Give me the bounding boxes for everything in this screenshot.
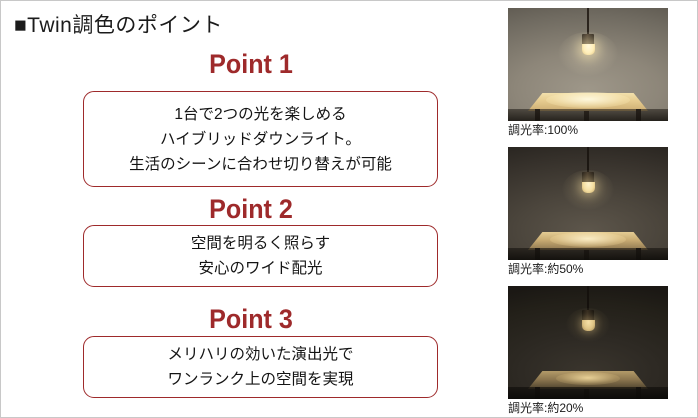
point-box-1-line-2: ハイブリッドダウンライト。 bbox=[160, 127, 361, 152]
lamp-halo bbox=[562, 170, 614, 210]
page-title: ■Twin調色のポイント bbox=[14, 12, 223, 40]
photo-caption-100: 調光率:100% bbox=[508, 123, 692, 138]
photo-dimming-20 bbox=[508, 286, 668, 399]
lamp-cord bbox=[587, 8, 589, 35]
photo-dimming-50 bbox=[508, 147, 668, 260]
point-box-2: 空間を明るく照らす 安心のワイド配光 bbox=[83, 225, 438, 287]
point-box-3-line-1: メリハリの効いた演出光で bbox=[167, 342, 353, 367]
point-box-3-line-2: ワンランク上の空間を実現 bbox=[167, 367, 353, 392]
point-heading-group-1: Point 1 bbox=[1, 49, 501, 79]
table-light-pool bbox=[546, 92, 630, 108]
point-heading-3: Point 3 bbox=[19, 304, 484, 334]
point-heading-2: Point 2 bbox=[19, 194, 484, 224]
floor-shadow bbox=[508, 248, 668, 260]
point-heading-group-2: Point 2 bbox=[1, 194, 501, 224]
point-box-2-line-1: 空間を明るく照らす bbox=[191, 231, 330, 256]
point-box-3: メリハリの効いた演出光で ワンランク上の空間を実現 bbox=[83, 336, 438, 398]
floor-shadow bbox=[508, 387, 668, 399]
point-heading-1: Point 1 bbox=[19, 49, 484, 79]
floor-shadow bbox=[508, 109, 668, 121]
dimming-photos-panel: 調光率:100% 調光率:約50% bbox=[508, 8, 692, 418]
photo-caption-20: 調光率:約20% bbox=[508, 401, 692, 416]
slide-canvas: ■Twin調色のポイント Point 1 1台で2つの光を楽しめる ハイブリッド… bbox=[0, 0, 698, 418]
lamp-halo bbox=[558, 32, 618, 76]
photo-block-20: 調光率:約20% bbox=[508, 286, 692, 416]
point-box-1-line-1: 1台で2つの光を楽しめる bbox=[174, 102, 346, 127]
photo-dimming-100 bbox=[508, 8, 668, 121]
photo-block-100: 調光率:100% bbox=[508, 8, 692, 138]
point-heading-group-3: Point 3 bbox=[1, 304, 501, 334]
point-box-1-line-3: 生活のシーンに合わせ切り替えが可能 bbox=[129, 152, 392, 177]
photo-block-50: 調光率:約50% bbox=[508, 147, 692, 277]
point-box-2-line-2: 安心のワイド配光 bbox=[198, 256, 322, 281]
table-light-pool bbox=[556, 372, 620, 385]
photo-caption-50: 調光率:約50% bbox=[508, 262, 692, 277]
table-light-pool bbox=[550, 232, 626, 247]
lamp-halo bbox=[566, 308, 610, 342]
point-box-1: 1台で2つの光を楽しめる ハイブリッドダウンライト。 生活のシーンに合わせ切り替… bbox=[83, 91, 438, 187]
points-panel: ■Twin調色のポイント Point 1 1台で2つの光を楽しめる ハイブリッド… bbox=[1, 1, 501, 417]
